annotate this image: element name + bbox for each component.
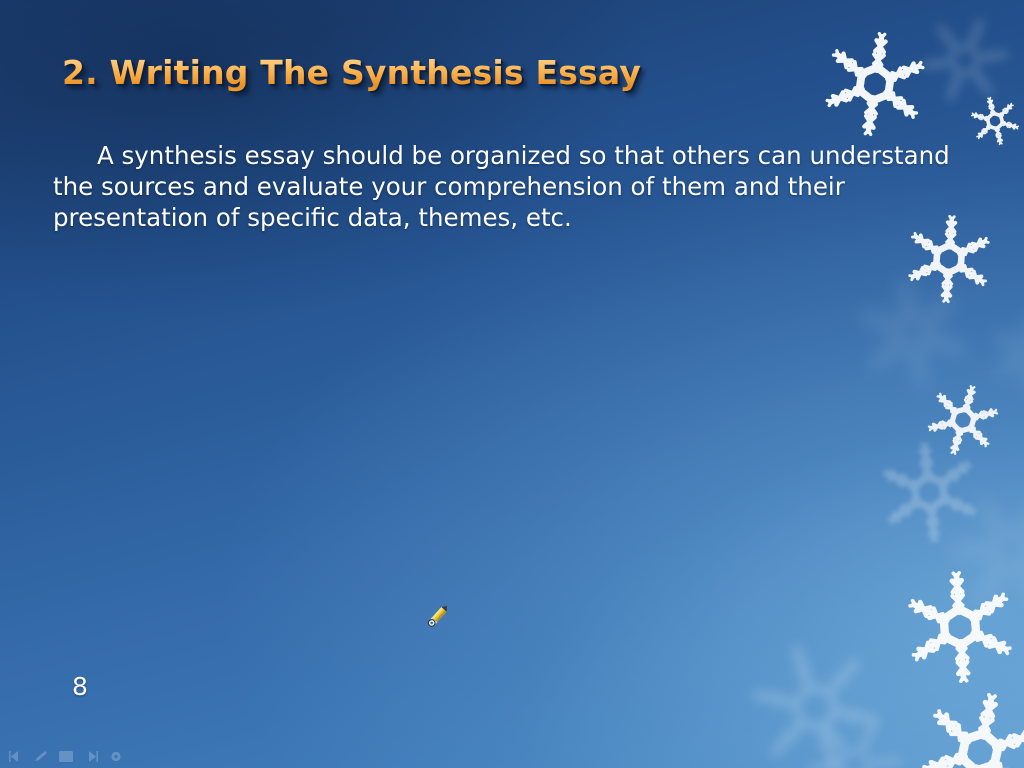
- snowflake-bottom-center-icon: [705, 597, 926, 768]
- snowflake-mid-right-ghost-icon: [901, 441, 1024, 660]
- background-sheen: [0, 0, 1024, 768]
- slide-title: 2. Writing The Synthesis Essay: [62, 52, 822, 94]
- snowflake-mid-right-faint-icon: [855, 418, 1003, 566]
- snowflake-upper-right-ghost-icon: [826, 246, 1000, 420]
- snowflake-bottom-right-big-icon: [885, 657, 1024, 768]
- slide-body-text: A synthesis essay should be organized so…: [53, 140, 973, 233]
- presentation-slide: 2. Writing The Synthesis Essay A synthes…: [0, 0, 1024, 768]
- previous-slide-icon[interactable]: [7, 750, 25, 764]
- snowflake-lower-right-big-icon: [880, 547, 1024, 707]
- options-icon[interactable]: [107, 750, 125, 764]
- slide-page-number: 8: [72, 672, 88, 701]
- snowflake-mid-right-icon: [904, 361, 1023, 480]
- pen-tool-icon[interactable]: [32, 750, 50, 764]
- snowflake-right-edge-faint-icon: [975, 300, 1024, 410]
- snowflake-top-right-faint-icon: [887, 0, 1024, 138]
- slideshow-menu-icon[interactable]: [57, 750, 75, 764]
- slideshow-control-bar[interactable]: [0, 745, 330, 768]
- pen-cursor-icon: [424, 602, 452, 630]
- slide-title-container: 2. Writing The Synthesis Essay: [62, 52, 822, 98]
- snowflake-bottom-edge-faint-icon: [769, 679, 942, 768]
- next-slide-icon[interactable]: [82, 750, 100, 764]
